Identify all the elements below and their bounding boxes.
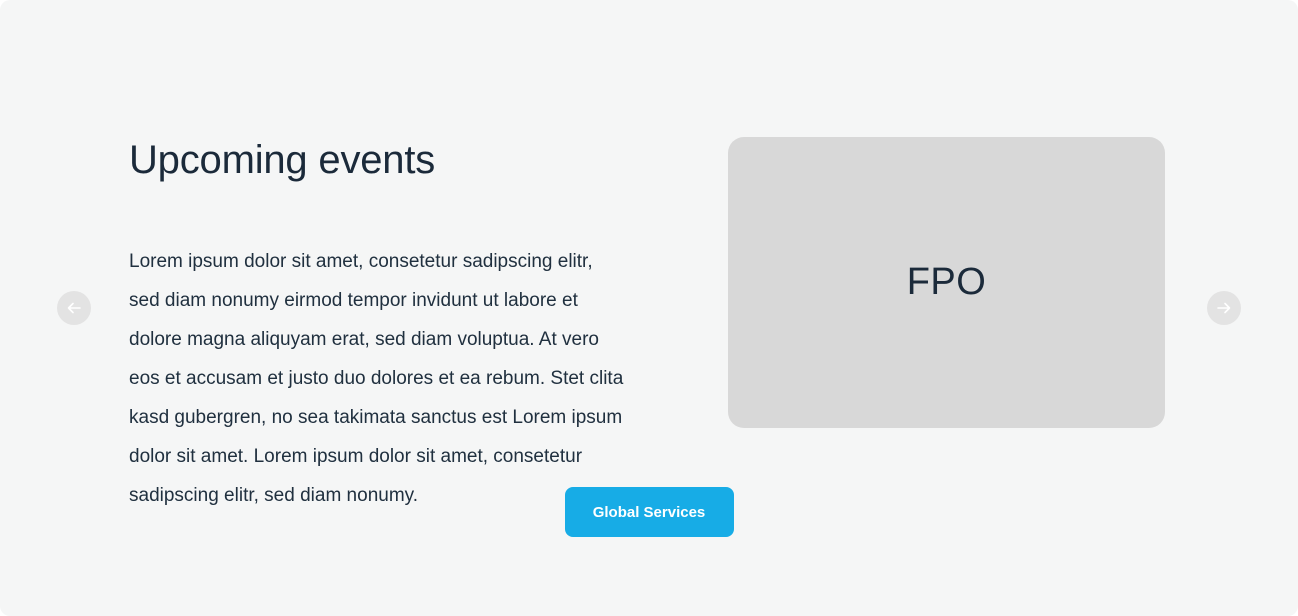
- global-services-button[interactable]: Global Services: [565, 487, 734, 537]
- media-placeholder: FPO: [728, 137, 1165, 428]
- carousel-slide-card: Upcoming events Lorem ipsum dolor sit am…: [0, 0, 1298, 616]
- media-placeholder-label: FPO: [907, 261, 987, 304]
- slide-text-column: Upcoming events Lorem ipsum dolor sit am…: [129, 136, 629, 515]
- slide-content: Upcoming events Lorem ipsum dolor sit am…: [0, 0, 1298, 616]
- slide-description: Lorem ipsum dolor sit amet, consetetur s…: [129, 184, 625, 515]
- cta-row: Global Services: [0, 487, 1298, 537]
- page-title: Upcoming events: [129, 136, 629, 184]
